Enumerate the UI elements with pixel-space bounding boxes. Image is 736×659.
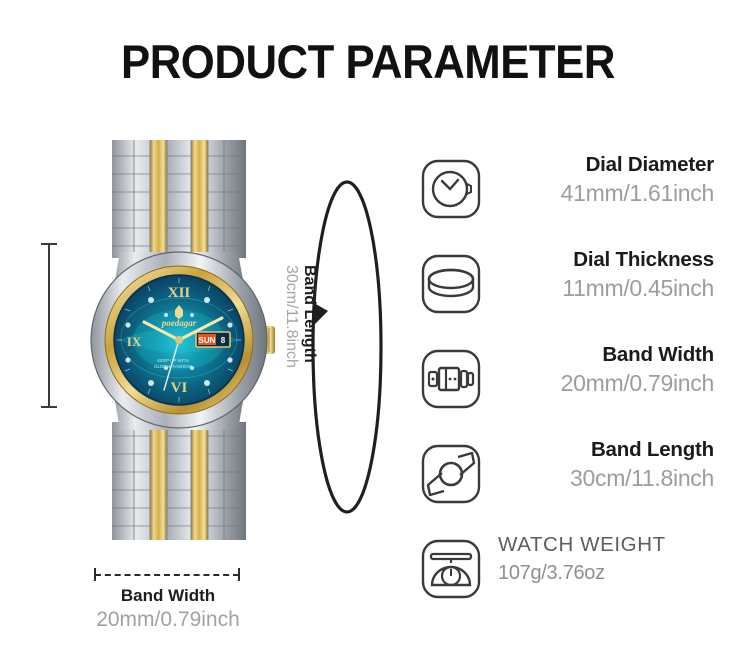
spec-value: 20mm/0.79inch xyxy=(492,368,714,398)
dashed-line xyxy=(95,574,239,576)
spec-value: 11mm/0.45inch xyxy=(492,273,714,303)
clasp-icon xyxy=(420,348,482,410)
svg-text:VI: VI xyxy=(171,380,188,396)
band-width-measure-line xyxy=(92,568,242,582)
tagline-line2: GLOBAL FASHION xyxy=(154,364,192,369)
band-length-callout-label: Band Length xyxy=(301,265,318,363)
svg-text:8: 8 xyxy=(221,336,226,345)
spec-value: 41mm/1.61inch xyxy=(492,178,714,208)
spec-text-dial-diameter: Dial Diameter 41mm/1.61inch xyxy=(492,152,714,208)
day-date-window: SUN 8 xyxy=(196,332,230,347)
spec-row-band-width: Band Width 20mm/0.79inch xyxy=(412,342,720,437)
dial-diameter-measure-line xyxy=(38,243,60,408)
watch-dial: XII III VI IX poedagar KEEP UP WITH xyxy=(115,276,243,404)
spec-text-dial-thickness: Dial Thickness 11mm/0.45inch xyxy=(492,247,714,303)
disc-thickness-icon xyxy=(420,253,482,315)
spec-row-dial-diameter: Dial Diameter 41mm/1.61inch xyxy=(412,152,720,247)
band-length-callout-value: 30cm/11.8inch xyxy=(283,265,300,368)
measure-cap-top xyxy=(41,243,57,245)
svg-text:IX: IX xyxy=(127,334,142,349)
svg-text:XII: XII xyxy=(168,285,191,301)
bracelet-lower xyxy=(112,422,246,540)
spec-label: Dial Diameter xyxy=(492,152,714,178)
spec-label: Dial Thickness xyxy=(492,247,714,273)
band-width-callout-label: Band Width xyxy=(52,586,284,606)
page-title: PRODUCT PARAMETER xyxy=(26,34,710,89)
brand-text: poedagar xyxy=(161,318,197,328)
band-width-callout-value: 20mm/0.79inch xyxy=(52,608,284,632)
spec-text-band-length: Band Length 30cm/11.8inch xyxy=(492,437,714,493)
kitchen-scale-icon xyxy=(420,538,482,600)
svg-text:SUN: SUN xyxy=(199,336,216,345)
spec-label: Band Length xyxy=(492,437,714,463)
spec-row-dial-thickness: Dial Thickness 11mm/0.45inch xyxy=(412,247,720,342)
strap-diagonal-icon xyxy=(420,443,482,505)
spec-row-band-length: Band Length 30cm/11.8inch xyxy=(412,437,720,532)
spec-value: 107g/3.76oz xyxy=(498,558,728,588)
spec-text-band-width: Band Width 20mm/0.79inch xyxy=(492,342,714,398)
spec-label: Band Width xyxy=(492,342,714,368)
watch-product-image: XII III VI IX poedagar KEEP UP WITH xyxy=(72,140,287,540)
measure-cap-left xyxy=(94,568,96,581)
spec-text-watch-weight: WATCH WEIGHT 107g/3.76oz xyxy=(498,532,728,588)
watch-illustration: XII III VI IX poedagar KEEP UP WITH xyxy=(72,140,287,540)
spec-value: 30cm/11.8inch xyxy=(492,463,714,493)
spec-label: WATCH WEIGHT xyxy=(498,532,728,558)
spec-list: Dial Diameter 41mm/1.61inch Dial Thickne… xyxy=(412,152,720,622)
band-length-callout-label-wrap: Band Length xyxy=(300,265,318,363)
band-width-callout: Band Width 20mm/0.79inch xyxy=(52,586,284,632)
measure-cap-right xyxy=(238,568,240,581)
band-length-callout-value-wrap: 30cm/11.8inch xyxy=(282,265,300,368)
measure-line xyxy=(48,243,50,408)
bracelet-upper xyxy=(112,140,246,258)
spec-row-watch-weight: WATCH WEIGHT 107g/3.76oz xyxy=(412,532,720,622)
measure-cap-bottom xyxy=(41,406,57,408)
product-parameter-infographic: PRODUCT PARAMETER Dial Diameter 41mm/1.6… xyxy=(0,0,736,659)
watch-face-icon xyxy=(420,158,482,220)
